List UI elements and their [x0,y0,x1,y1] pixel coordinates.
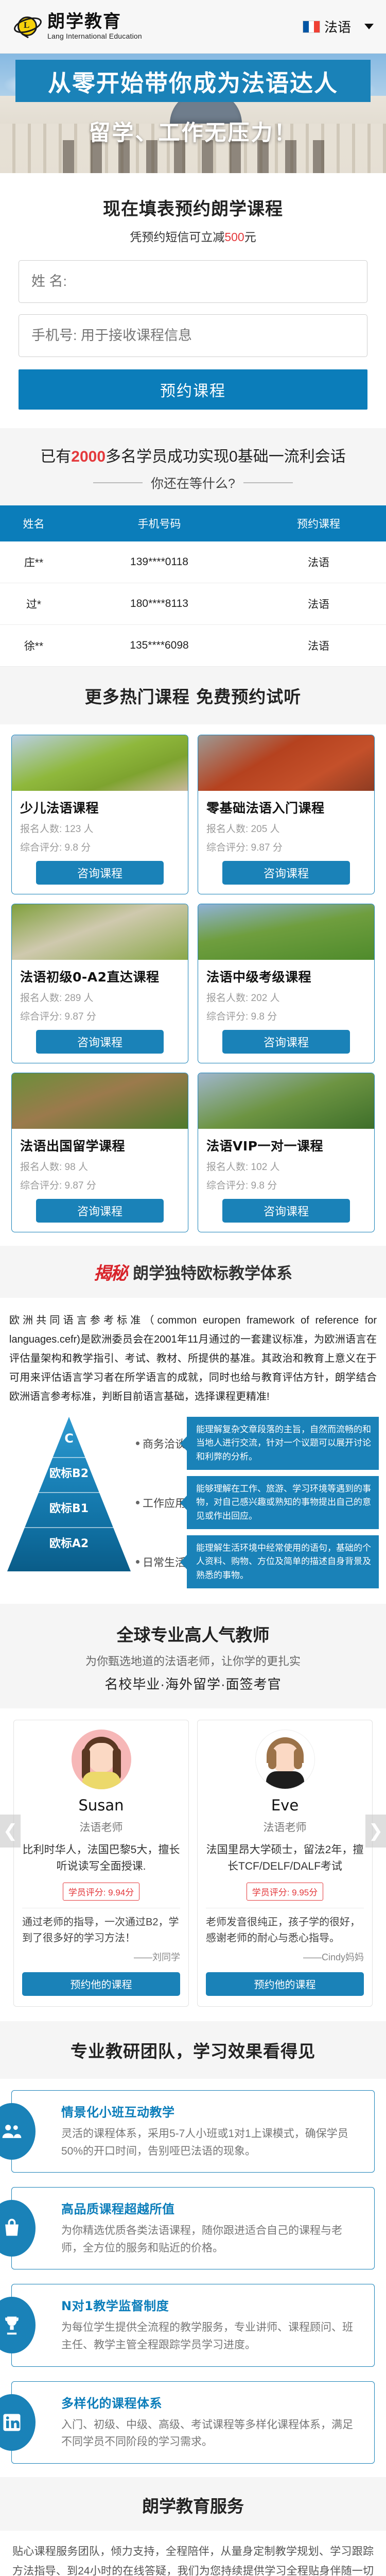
cefr-level-desc: 能理解复杂文章段落的主旨，自然而流畅的和当地人进行交流，针对一个议题可以展开讨论… [187,1417,379,1470]
course-thumbnail [12,904,188,960]
rule-left [93,482,143,483]
course-enrolled: 报名人数: 205 人 [206,821,366,835]
services-heading: 朗学教育服务 [0,2493,386,2517]
teacher-quote: 老师发音很纯正，孩子学的很好，感谢老师的耐心与悉心指导。——Cindy妈妈 [206,1914,364,1965]
chevron-left-icon[interactable]: ❮ [0,1815,21,1848]
stats-post: 多名学员成功实现0基础一流利会话 [106,448,346,465]
consult-course-button[interactable]: 咨询课程 [36,1199,164,1223]
chevron-down-icon[interactable] [364,24,374,29]
france-flag-icon [303,21,320,33]
stats-section: 已有2000多名学员成功实现0基础一流利会话 你还在等什么? [0,428,386,505]
features-list: 情景化小班互动教学灵活的课程体系，采用5-7人小班或1对1上课模式，确保学员50… [0,2079,386,2477]
teachers-carousel: Susan法语老师比利时华人，法国巴黎5大，擅长听说读写全面授课.学员评分: 9… [0,1708,386,2021]
tagline-amount: 500 [224,230,244,244]
hero-title: 从零开始带你成为法语达人 [48,64,338,98]
course-card[interactable]: 法语VIP一对一课程报名人数: 102 人综合评分: 9.8 分咨询课程 [198,1073,375,1232]
feature-desc: 入门、初级、中级、高级、考试课程等多样化课程体系，满足不同学员不同阶段的学习需求… [61,2416,362,2451]
brand-logo[interactable]: L 朗学教育 Lang International Education [13,13,142,41]
table-row: 庄**139****0118法语 [0,541,386,583]
booking-heading: 现在填表预约朗学课程 [19,195,367,220]
quote-author: ——刘同学 [22,1951,180,1965]
teacher-bio: 法国里昂大学硕士，留法2年，擅长TCF/DELF/DALF考试 [206,1842,364,1874]
teachers-sub1: 为你甄选地道的法语老师，让你学的更扎实 [0,1652,386,1669]
shopping-bag-icon [0,2200,36,2257]
services-intro: 贴心课程服务团队，倾力支持，全程陪伴，从量身定制教学规划、学习跟踪方法指导、到2… [0,2531,386,2576]
cefr-level-row: 商务洽谈能理解复杂文章段落的主旨，自然而流畅的和当地人进行交流，针对一个议题可以… [136,1417,379,1470]
pyramid-level-1: 欧标B2 [7,1464,131,1481]
feature-card: 情景化小班互动教学灵活的课程体系，采用5-7人小班或1对1上课模式，确保学员50… [11,2090,375,2173]
teacher-name: Eve [206,1797,364,1814]
services-heading-band: 朗学教育服务 [0,2477,386,2531]
feature-title: 多样化的课程体系 [61,2393,362,2411]
col-course: 预约课程 [251,505,386,541]
course-thumbnail [198,904,374,960]
teachers-heading: 全球专业高人气教师 [0,1621,386,1646]
feature-desc: 为你精选优质各类法语课程，随你跟进适合自己的课程与老师，全方位的服务和贴近的价格… [61,2222,362,2257]
course-card[interactable]: 法语出国留学课程报名人数: 98 人综合评分: 9.87 分咨询课程 [11,1073,188,1232]
consult-course-button[interactable]: 咨询课程 [222,1030,350,1054]
course-title: 少儿法语课程 [20,798,180,817]
course-score: 综合评分: 9.87 分 [20,1178,180,1192]
quote-text: 通过老师的指导，一次通过B2，学到了很多好的学习方法！ [22,1917,179,1944]
cefr-level-key-text: 商务洽谈 [143,1436,186,1451]
name-input[interactable] [19,260,367,303]
language-current[interactable]: 法语 [303,17,351,36]
cefr-level-row: 工作应用能够理解在工作、旅游、学习环境等遇到的事物，对自己感兴趣或熟知的事物提出… [136,1476,379,1529]
cell-phone: 135****6098 [67,625,251,667]
brand-name-en: Lang International Education [47,32,142,40]
cefr-level-list: 商务洽谈能理解复杂文章段落的主旨，自然而流畅的和当地人进行交流，针对一个议题可以… [136,1417,379,1588]
course-enrolled: 报名人数: 202 人 [206,990,366,1004]
bullet-icon [136,1442,139,1445]
linkedin-icon [0,2394,36,2451]
cell-name: 庄** [0,541,67,583]
bullet-icon [136,1501,139,1504]
tagline-pre: 凭预约短信可立减 [130,230,224,244]
feature-title: 高品质课程超越所值 [61,2199,362,2217]
divider [22,1908,180,1908]
course-enrolled: 报名人数: 102 人 [206,1159,366,1173]
course-title: 法语中级考级课程 [206,967,366,986]
course-card[interactable]: 法语初级0-A2直达课程报名人数: 289 人综合评分: 9.87 分咨询课程 [11,904,188,1063]
courses-heading: 更多热门课程 免费预约试听 [0,683,386,708]
teacher-quote: 通过老师的指导，一次通过B2，学到了很多好的学习方法！——刘同学 [22,1914,180,1965]
course-title: 法语出国留学课程 [20,1136,180,1155]
cefr-pyramid-section: C 欧标B2 欧标B1 欧标A2 商务洽谈能理解复杂文章段落的主旨，自然而流畅的… [0,1412,386,1604]
book-teacher-button[interactable]: 预约他的课程 [206,1972,364,1996]
consult-course-button[interactable]: 咨询课程 [36,861,164,885]
feature-card: 高品质课程超越所值为你精选优质各类法语课程，随你跟进适合自己的课程与老师，全方位… [11,2187,375,2269]
hero-subtitle: 留学、工作无压力！ [0,115,386,147]
stats-number: 2000 [71,448,106,465]
lang-planet-icon: L [13,13,42,40]
feature-title: 情景化小班互动教学 [61,2102,362,2120]
course-thumbnail [12,735,188,791]
cell-course: 法语 [251,625,386,667]
quote-text: 老师发音很纯正，孩子学的很好，感谢老师的耐心与悉心指导。 [206,1917,360,1944]
course-card[interactable]: 零基础法语入门课程报名人数: 205 人综合评分: 9.87 分咨询课程 [198,735,375,894]
consult-course-button[interactable]: 咨询课程 [222,1199,350,1223]
course-score: 综合评分: 9.8 分 [206,1009,366,1023]
cell-course: 法语 [251,583,386,625]
language-label: 法语 [324,17,351,36]
reveal-stamp-icon: 揭秘 [94,1259,127,1284]
col-name: 姓名 [0,505,67,541]
courses-heading-band: 更多热门课程 免费预约试听 [0,667,386,724]
cefr-level-row: 日常生活能理解生活环境中经常使用的语句，基础的个人资料、购物、方位及简单的描述自… [136,1535,379,1588]
cell-name: 过* [0,583,67,625]
feature-card: 多样化的课程体系入门、初级、中级、高级、考试课程等多样化课程体系，满足不同学员不… [11,2381,375,2464]
course-enrolled: 报名人数: 98 人 [20,1159,180,1173]
teachers-sub2: 名校毕业·海外留学·面签考官 [0,1674,386,1693]
booking-form-section: 现在填表预约朗学课程 凭预约短信可立减500元 预约课程 [0,173,386,428]
cefr-description: 欧洲共同语言参考标准（common europen framework of r… [0,1298,386,1412]
stats-headline: 已有2000多名学员成功实现0基础一流利会话 [0,444,386,466]
table-row: 过*180****8113法语 [0,583,386,625]
phone-input[interactable] [19,314,367,357]
cell-name: 徐** [0,625,67,667]
submit-booking-button[interactable]: 预约课程 [19,369,367,410]
cefr-pyramid: C 欧标B2 欧标B1 欧标A2 [7,1417,131,1571]
cefr-heading-band: 揭秘 朗学独特欧标教学体系 [0,1246,386,1298]
course-thumbnail [198,735,374,791]
course-card[interactable]: 少儿法语课程报名人数: 123 人综合评分: 9.8 分咨询课程 [11,735,188,894]
hero-title-bar: 从零开始带你成为法语达人 [15,60,371,102]
teacher-role: 法语老师 [22,1819,180,1835]
hero-banner: 从零开始带你成为法语达人 留学、工作无压力！ [0,54,386,173]
brand-name-cn: 朗学教育 [47,13,142,31]
teacher-role: 法语老师 [206,1819,364,1835]
quote-author: ——Cindy妈妈 [206,1951,364,1965]
booking-tagline: 凭预约短信可立减500元 [19,227,367,245]
features-heading: 专业教研团队，学习效果看得见 [0,2038,386,2062]
course-score: 综合评分: 9.87 分 [20,1009,180,1023]
pyramid-level-0: C [7,1431,131,1446]
teacher-bio: 比利时华人，法国巴黎5大，擅长听说读写全面授课. [22,1842,180,1874]
course-thumbnail [198,1073,374,1129]
rule-right [243,482,293,483]
course-enrolled: 报名人数: 123 人 [20,821,180,835]
booking-marquee-table: 姓名 手机号码 预约课程 庄**139****0118法语过*180****81… [0,505,386,667]
people-group-icon [0,2103,36,2160]
course-title: 零基础法语入门课程 [206,798,366,817]
cefr-heading: 朗学独特欧标教学体系 [133,1260,292,1283]
cefr-level-key-text: 日常生活 [143,1554,186,1570]
feature-title: N对1教学监督制度 [61,2296,362,2314]
teacher-score-badge: 学员评分: 9.95分 [247,1883,324,1901]
cefr-paragraph: 欧洲共同语言参考标准（common europen framework of r… [9,1311,377,1406]
table-row: 徐**135****6098法语 [0,625,386,667]
avatar [255,1730,315,1789]
cefr-level-key: 工作应用 [136,1495,187,1511]
consult-course-button[interactable]: 咨询课程 [222,861,350,885]
divider [206,1908,364,1908]
feature-desc: 灵活的课程体系，采用5-7人小班或1对1上课模式，确保学员50%的开口时间，告别… [61,2125,362,2160]
cell-phone: 180****8113 [67,583,251,625]
course-score: 综合评分: 9.8 分 [20,840,180,854]
cefr-level-desc: 能够理解在工作、旅游、学习环境等遇到的事物，对自己感兴趣或熟知的事物提出自己的意… [187,1476,379,1529]
feature-card: N对1教学监督制度为每位学生提供全流程的教学服务，专业讲师、课程顾问、班主任、教… [11,2284,375,2366]
chevron-right-icon[interactable]: ❯ [365,1815,386,1848]
course-score: 综合评分: 9.8 分 [206,1178,366,1192]
avatar [72,1730,131,1789]
cell-course: 法语 [251,541,386,583]
trophy-icon [0,2297,36,2353]
course-title: 法语VIP一对一课程 [206,1136,366,1155]
cefr-level-key-text: 工作应用 [143,1495,186,1511]
stats-subline: 你还在等什么? [151,473,235,492]
teacher-card[interactable]: Eve法语老师法国里昂大学硕士，留法2年，擅长TCF/DELF/DALF考试学员… [197,1720,373,2007]
cefr-level-desc: 能理解生活环境中经常使用的语句，基础的个人资料、购物、方位及简单的描述自身背景及… [187,1535,379,1588]
tagline-post: 元 [244,230,256,244]
courses-grid: 少儿法语课程报名人数: 123 人综合评分: 9.8 分咨询课程零基础法语入门课… [0,724,386,1246]
pyramid-level-2: 欧标B1 [7,1499,131,1516]
course-score: 综合评分: 9.87 分 [206,840,366,854]
stats-pre: 已有 [40,448,71,465]
features-heading-band: 专业教研团队，学习效果看得见 [0,2021,386,2079]
course-card[interactable]: 法语中级考级课程报名人数: 202 人综合评分: 9.8 分咨询课程 [198,904,375,1063]
table-header-row: 姓名 手机号码 预约课程 [0,505,386,541]
pyramid-level-3: 欧标A2 [7,1534,131,1551]
cefr-level-key: 商务洽谈 [136,1436,187,1451]
stats-subline-row: 你还在等什么? [0,473,386,492]
cell-phone: 139****0118 [67,541,251,583]
bullet-icon [136,1560,139,1564]
teachers-heading-band: 全球专业高人气教师 为你甄选地道的法语老师，让你学的更扎实 名校毕业·海外留学·… [0,1604,386,1708]
cefr-level-key: 日常生活 [136,1554,187,1570]
course-title: 法语初级0-A2直达课程 [20,967,180,986]
feature-desc: 为每位学生提供全流程的教学服务，专业讲师、课程顾问、班主任、教学主管全程跟踪学员… [61,2319,362,2353]
course-enrolled: 报名人数: 289 人 [20,990,180,1004]
course-thumbnail [12,1073,188,1129]
teacher-score-badge: 学员评分: 9.94分 [63,1883,140,1901]
teacher-name: Susan [22,1797,180,1814]
book-teacher-button[interactable]: 预约他的课程 [22,1972,180,1996]
consult-course-button[interactable]: 咨询课程 [36,1030,164,1054]
col-phone: 手机号码 [67,505,251,541]
teacher-card[interactable]: Susan法语老师比利时华人，法国巴黎5大，擅长听说读写全面授课.学员评分: 9… [13,1720,189,2007]
language-switcher[interactable]: 法语 [303,17,374,36]
site-header: L 朗学教育 Lang International Education 法语 [0,0,386,54]
